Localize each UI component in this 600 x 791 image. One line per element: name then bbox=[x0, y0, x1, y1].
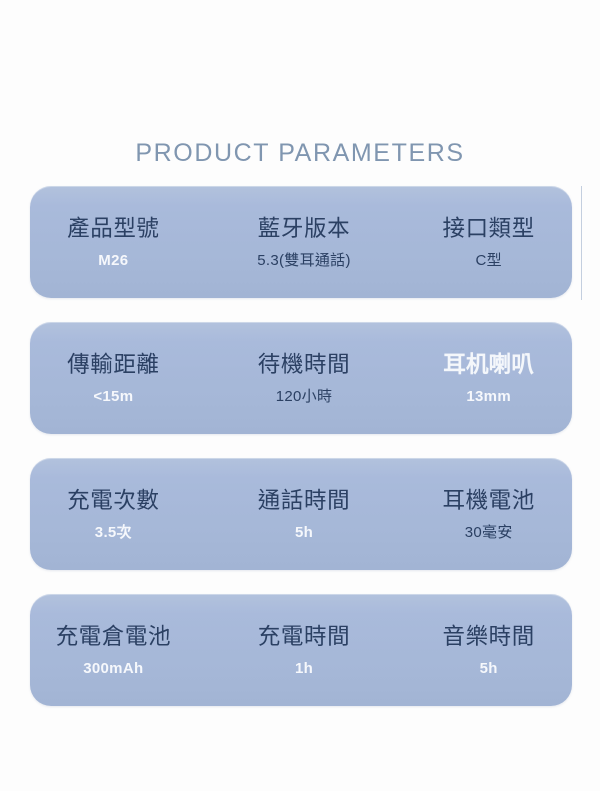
spec-label: 接口類型 bbox=[442, 217, 534, 242]
spec-label: 充電倉電池 bbox=[56, 625, 172, 650]
spec-value: 300mAh bbox=[83, 661, 143, 678]
spec-row: 傳輸距離<15m待機時間120小時耳机喇叭13mm bbox=[30, 322, 572, 434]
spec-label: 耳机喇叭 bbox=[443, 353, 534, 378]
spec-value: 13mm bbox=[466, 389, 511, 406]
spec-label: 充電次數 bbox=[67, 489, 159, 514]
spec-label: 音樂時間 bbox=[442, 625, 534, 650]
spec-cell: 耳機電池30毫安 bbox=[391, 487, 572, 541]
spec-cell: 通話時間5h bbox=[221, 487, 392, 541]
spec-cell: 充電時間1h bbox=[221, 623, 392, 677]
spec-row: 產品型號M26藍牙版本5.3(雙耳通話)接口類型C型 bbox=[30, 186, 572, 298]
spec-value: 5.3(雙耳通話) bbox=[257, 253, 351, 270]
spec-value: 3.5次 bbox=[95, 525, 132, 542]
spec-cell: 待機時間120小時 bbox=[221, 351, 392, 405]
spec-cell: 充電倉電池300mAh bbox=[30, 623, 221, 677]
spec-label: 產品型號 bbox=[67, 217, 159, 242]
spec-label: 耳機電池 bbox=[442, 489, 534, 514]
page-title: PRODUCT PARAMETERS bbox=[0, 139, 600, 168]
spec-cell: 藍牙版本5.3(雙耳通話) bbox=[221, 215, 392, 269]
spec-label: 待機時間 bbox=[258, 353, 350, 378]
spec-value: 5h bbox=[295, 525, 313, 542]
spec-value: 120小時 bbox=[276, 389, 333, 406]
spec-value: 1h bbox=[295, 661, 313, 678]
spec-row: 充電倉電池300mAh充電時間1h音樂時間5h bbox=[30, 594, 572, 706]
spec-row: 充電次數3.5次通話時間5h耳機電池30毫安 bbox=[30, 458, 572, 570]
spec-label: 藍牙版本 bbox=[258, 217, 350, 242]
spec-label: 充電時間 bbox=[258, 625, 350, 650]
spec-value: M26 bbox=[98, 253, 128, 270]
spec-value: 5h bbox=[480, 661, 498, 678]
spec-cell: 傳輸距離<15m bbox=[30, 351, 221, 405]
spec-value: 30毫安 bbox=[465, 525, 513, 542]
product-parameters-page: PRODUCT PARAMETERS 產品型號M26藍牙版本5.3(雙耳通話)接… bbox=[0, 0, 600, 791]
spec-table: 產品型號M26藍牙版本5.3(雙耳通話)接口類型C型傳輸距離<15m待機時間12… bbox=[30, 186, 572, 706]
edge-hairline-artifact bbox=[581, 186, 582, 300]
spec-cell: 耳机喇叭13mm bbox=[391, 351, 572, 405]
spec-label: 通話時間 bbox=[258, 489, 350, 514]
spec-cell: 接口類型C型 bbox=[391, 215, 572, 269]
spec-cell: 產品型號M26 bbox=[30, 215, 221, 269]
spec-value: <15m bbox=[93, 389, 133, 406]
spec-cell: 充電次數3.5次 bbox=[30, 487, 221, 541]
spec-cell: 音樂時間5h bbox=[391, 623, 572, 677]
spec-value: C型 bbox=[475, 253, 501, 270]
spec-label: 傳輸距離 bbox=[67, 353, 159, 378]
